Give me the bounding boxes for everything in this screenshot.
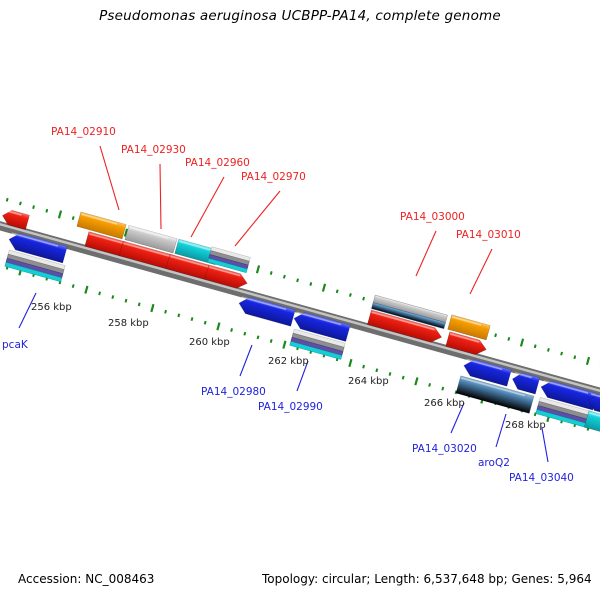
gene-label-pa14-02980[interactable]: PA14_02980 bbox=[201, 386, 266, 398]
scale-label-258-kbp: 258 kbp bbox=[108, 318, 149, 329]
genome-viewer[interactable]: Pseudomonas aeruginosa UCBPP-PA14, compl… bbox=[0, 0, 600, 600]
genome-map-canvas[interactable]: 256 kbp258 kbp260 kbp262 kbp264 kbp266 k… bbox=[0, 0, 600, 600]
scale-label-266-kbp: 266 kbp bbox=[424, 398, 465, 409]
scale-label-264-kbp: 264 kbp bbox=[348, 376, 389, 387]
gene-label-pa14-03040[interactable]: PA14_03040 bbox=[509, 472, 574, 484]
gene-label-pcak[interactable]: pcaK bbox=[2, 339, 29, 351]
scale-label-262-kbp: 262 kbp bbox=[268, 356, 309, 367]
gene-label-pa14-03000[interactable]: PA14_03000 bbox=[400, 211, 465, 223]
accession-text: Accession: NC_008463 bbox=[18, 572, 154, 586]
gene-label-pa14-03010[interactable]: PA14_03010 bbox=[456, 229, 521, 241]
gene-label-pa14-02990[interactable]: PA14_02990 bbox=[258, 401, 323, 413]
gene-label-pa14-02910[interactable]: PA14_02910 bbox=[51, 126, 116, 138]
gene-orange-02910[interactable] bbox=[77, 212, 126, 239]
scale-label-260-kbp: 260 kbp bbox=[189, 337, 230, 348]
scale-label-268-kbp: 268 kbp bbox=[505, 420, 546, 431]
gene-label-pa14-02970[interactable]: PA14_02970 bbox=[241, 171, 306, 183]
gene-label-pa14-02930[interactable]: PA14_02930 bbox=[121, 144, 186, 156]
gene-label-aroq2[interactable]: aroQ2 bbox=[478, 457, 510, 469]
gene-label-pa14-02960[interactable]: PA14_02960 bbox=[185, 157, 250, 169]
scale-label-256-kbp: 256 kbp bbox=[31, 302, 72, 313]
genome-summary-text: Topology: circular; Length: 6,537,648 bp… bbox=[262, 572, 592, 586]
gene-label-pa14-03020[interactable]: PA14_03020 bbox=[412, 443, 477, 455]
